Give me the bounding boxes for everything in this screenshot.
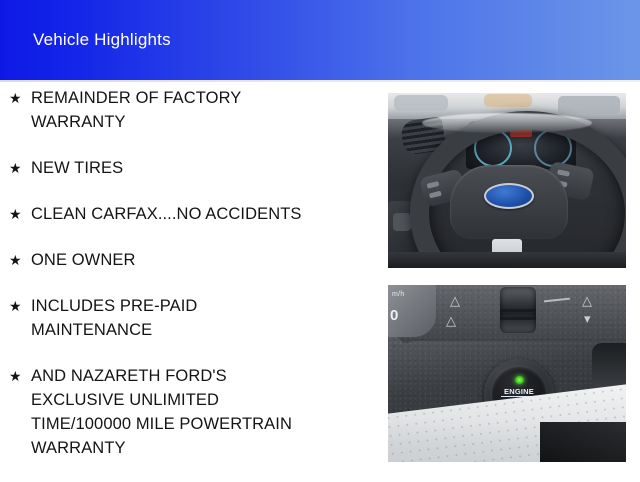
fog-light-icon: ▾: [584, 311, 591, 327]
cluster-value-label: 0: [390, 307, 398, 324]
list-item-label: REMAINDER OF FACTORY WARRANTY: [31, 86, 378, 134]
list-item: ★ REMAINDER OF FACTORY WARRANTY: [0, 86, 378, 134]
header-divider: [0, 80, 640, 82]
steering-wheel-photo: [388, 93, 626, 268]
star-bullet-icon: ★: [9, 156, 22, 180]
headlight-icon: △: [582, 293, 592, 309]
list-item: ★ NEW TIRES: [0, 156, 378, 180]
page-title: Vehicle Highlights: [33, 30, 171, 50]
list-item-label: ONE OWNER: [31, 248, 378, 272]
cluster-unit-label: m/h: [392, 291, 405, 298]
footwell-shadow: [540, 422, 626, 462]
windshield-reflection: [394, 95, 448, 111]
header-bar: Vehicle Highlights: [0, 0, 640, 80]
star-bullet-icon: ★: [9, 294, 22, 318]
list-item-label: CLEAN CARFAX....NO ACCIDENTS: [31, 202, 378, 226]
list-item: ★ INCLUDES PRE-PAID MAINTENANCE: [0, 294, 378, 342]
wiper-icon: △: [450, 293, 460, 309]
wheel-button: [429, 191, 442, 199]
knob-ridge: [500, 317, 536, 320]
door-switch: [393, 213, 411, 231]
wiper-speed-knob[interactable]: [500, 287, 536, 333]
lower-dash-shadow: [388, 252, 626, 268]
rear-wiper-icon: △: [446, 313, 456, 329]
highlights-list: ★ REMAINDER OF FACTORY WARRANTY ★ NEW TI…: [0, 86, 378, 482]
status-led-icon: [515, 376, 524, 384]
star-bullet-icon: ★: [9, 86, 22, 110]
console-right-edge: [592, 343, 626, 389]
knob-ridge: [500, 309, 536, 312]
list-item-label: INCLUDES PRE-PAID MAINTENANCE: [31, 294, 378, 342]
vehicle-highlights-card: Vehicle Highlights ★ REMAINDER OF FACTOR…: [0, 0, 640, 480]
cluster-edge: m/h 0: [388, 285, 436, 337]
windshield-reflection: [558, 96, 620, 114]
steering-wheel-highlight: [422, 113, 592, 133]
list-item: ★ CLEAN CARFAX....NO ACCIDENTS: [0, 202, 378, 226]
star-bullet-icon: ★: [9, 248, 22, 272]
windshield-reflection: [484, 94, 532, 107]
star-bullet-icon: ★: [9, 364, 22, 388]
wheel-button: [427, 181, 440, 189]
list-item: ★ AND NAZARETH FORD'S EXCLUSIVE UNLIMITE…: [0, 364, 378, 460]
engine-start-stop-photo: m/h 0 △ △ △ ▾ ENGINE START STOP: [388, 285, 626, 462]
list-item: ★ ONE OWNER: [0, 248, 378, 272]
steering-wheel-hub: [450, 165, 568, 239]
list-item-label: AND NAZARETH FORD'S EXCLUSIVE UNLIMITED …: [31, 364, 378, 460]
star-bullet-icon: ★: [9, 202, 22, 226]
ford-oval-logo-icon: [484, 183, 534, 209]
list-item-label: NEW TIRES: [31, 156, 378, 180]
wheel-button: [557, 169, 570, 176]
